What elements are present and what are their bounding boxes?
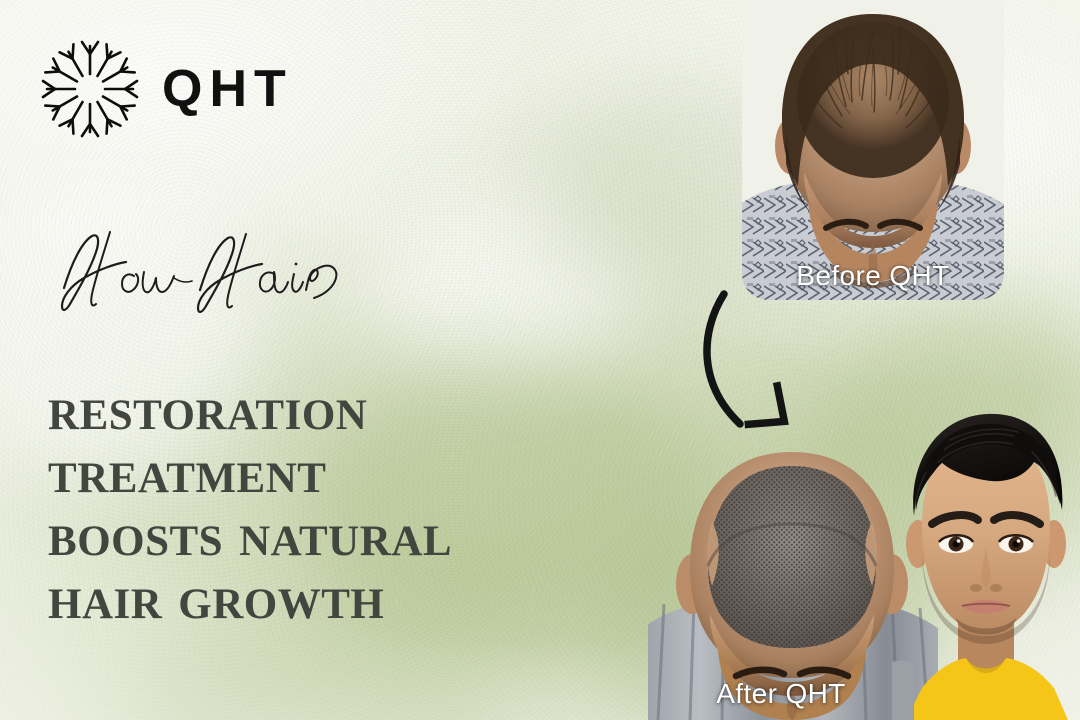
headline-line-3: Boosts Natural (48, 504, 668, 567)
headline-line-2: Treatment (48, 441, 668, 504)
page-title: Restoration Treatment Boosts Natural Hai… (48, 378, 668, 631)
radial-follicle-logo-icon (38, 36, 142, 142)
brand-lockup[interactable]: QHT (38, 36, 293, 142)
before-photo-card: Before QHT (742, 0, 1004, 300)
portrait-photo-card (892, 392, 1080, 720)
script-eyebrow: How Hair (48, 228, 348, 314)
before-photo-image (742, 0, 1004, 300)
brand-wordmark: QHT (162, 63, 293, 115)
after-caption: After QHT (648, 678, 926, 710)
curved-arrow-down-right-icon (688, 288, 828, 454)
promo-banner: Before QHT (0, 0, 1080, 720)
portrait-photo-image (892, 392, 1080, 720)
headline-line-1: Restoration (48, 378, 668, 441)
headline-line-4: Hair Growth (48, 567, 668, 630)
